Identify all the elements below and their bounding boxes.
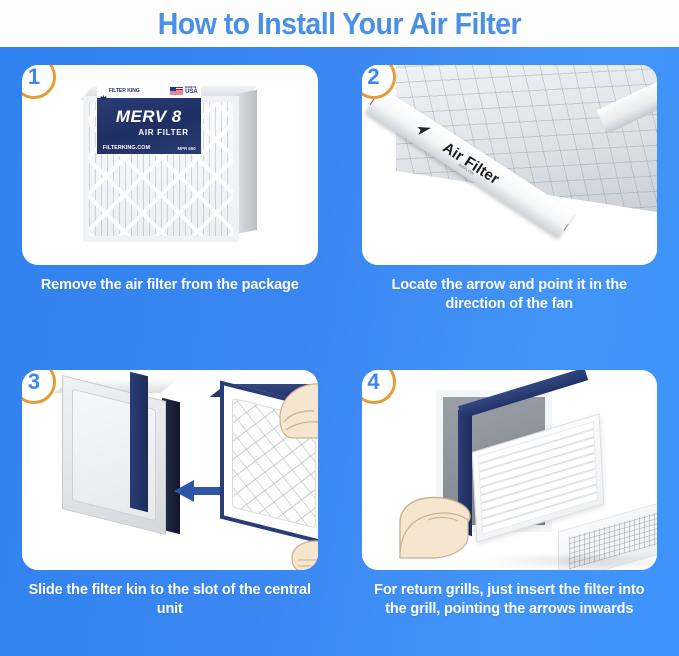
step-3-illustration [22,370,318,570]
step-caption-2: Locate the arrow and point it in the dir… [362,276,658,314]
made-in-usa-badge: MADE IN USA [170,87,198,96]
brand-website: FILTERKING.COM [103,145,150,151]
page-title: How to Install Your Air Filter [158,6,521,42]
hand-icon [398,466,490,562]
product-name: MERV 8 [102,107,196,127]
step-card-4: 4 [362,370,658,570]
brand-lockup: FILTER KING [100,88,140,95]
step-4-illustration [362,370,658,570]
filter-corner-arrow-photo: Air Filter AIRFLOW [362,65,658,263]
hand-icon [260,378,318,440]
steps-grid: MERV 8 AIR FILTER FILTERKING.COM MPR 650 [0,47,679,656]
hand-lower-icon [288,538,318,570]
us-flag-icon [170,87,183,95]
page-header: How to Install Your Air Filter [0,0,679,47]
step-cell-3: 3 Slide the filter kin to the slot of th… [0,352,340,656]
filter-header-strip: FILTER KING MADE IN USA [97,84,201,98]
step-caption-1: Remove the air filter from the package [22,276,318,295]
brand-name: FILTER KING [109,89,140,94]
filter-side-rail [130,371,148,511]
boxed-air-filter-photo: MERV 8 AIR FILTER FILTERKING.COM MPR 650 [83,86,257,244]
step-cell-4: 4 For return grills, just insert the fil… [340,352,679,656]
airflow-arrow-icon [409,118,434,143]
infographic-page: How to Install Your Air Filter [0,0,679,656]
steps-body: MERV 8 AIR FILTER FILTERKING.COM MPR 650 [0,47,679,656]
drop-shadow [482,556,658,566]
step-cell-1: MERV 8 AIR FILTER FILTERKING.COM MPR 650 [0,47,340,352]
step-cell-2: Air Filter AIRFLOW 2 Locate the arrow an… [340,47,679,352]
central-unit-body [62,375,166,535]
step-1-illustration: MERV 8 AIR FILTER FILTERKING.COM MPR 650 [22,65,318,265]
crown-icon [100,88,107,95]
country-text: USA [185,89,198,95]
step-card-1: MERV 8 AIR FILTER FILTERKING.COM MPR 650 [22,65,318,265]
usa-text-block: MADE IN USA [185,87,198,96]
step-caption-4: For return grills, just insert the filte… [362,581,658,619]
mpr-rating: MPR 650 [177,146,195,151]
filter-brand-label: MERV 8 AIR FILTER FILTERKING.COM MPR 650 [97,92,201,154]
step-card-3: 3 [22,370,318,570]
product-subtitle: AIR FILTER [102,128,196,137]
step-card-2: Air Filter AIRFLOW 2 [362,65,658,265]
step-2-illustration: Air Filter AIRFLOW [362,65,658,265]
label-footer: FILTERKING.COM MPR 650 [103,145,196,151]
step-caption-3: Slide the filter kin to the slot of the … [22,581,318,619]
